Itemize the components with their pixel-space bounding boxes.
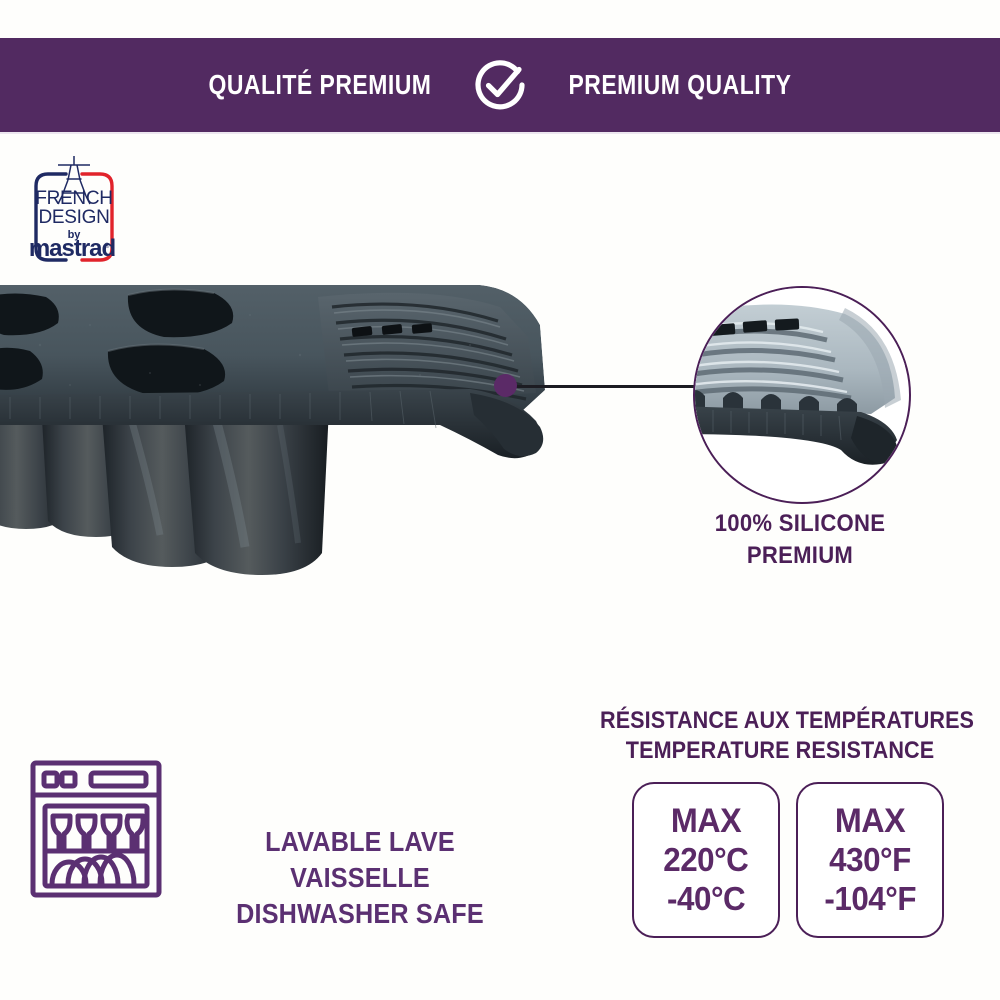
- logo-brand: mastrad: [29, 235, 116, 262]
- temperature-badge-fahrenheit: MAX 430°F -104°F: [796, 782, 944, 938]
- temperature-heading: RÉSISTANCE AUX TEMPÉRATURES TEMPERATURE …: [580, 706, 980, 766]
- temperature-badges: MAX 220°C -40°C MAX 430°F -104°F: [632, 782, 944, 938]
- dishwasher-caption-en: DISHWASHER SAFE: [198, 896, 522, 932]
- silicone-caption-line2: PREMIUM: [634, 540, 965, 572]
- product-infographic: QUALITÉ PREMIUM PREMIUM QUALITY FRENCH: [0, 0, 1000, 1000]
- magnifier-circle: [693, 286, 911, 504]
- logo-registered: ®: [104, 242, 110, 250]
- banner-text-en: PREMIUM QUALITY: [568, 69, 791, 101]
- dishwasher-caption-fr: LAVABLE LAVE VAISSELLE: [198, 824, 522, 896]
- banner-text-fr: QUALITÉ PREMIUM: [209, 69, 432, 101]
- dishwasher-caption: LAVABLE LAVE VAISSELLE DISHWASHER SAFE: [180, 824, 540, 932]
- silicone-caption: 100% SILICONE PREMIUM: [620, 508, 980, 572]
- temperature-badge-celsius: MAX 220°C -40°C: [632, 782, 780, 938]
- temperature-heading-fr: RÉSISTANCE AUX TEMPÉRATURES: [600, 706, 960, 736]
- badge-max-label-f: MAX: [835, 802, 905, 840]
- silicone-caption-line1: 100% SILICONE: [634, 508, 965, 540]
- badge-low-f: -104°F: [824, 880, 916, 918]
- callout-dot: [494, 374, 517, 397]
- badge-max-label-c: MAX: [671, 802, 741, 840]
- temperature-heading-en: TEMPERATURE RESISTANCE: [600, 736, 960, 766]
- premium-quality-banner: QUALITÉ PREMIUM PREMIUM QUALITY: [0, 38, 1000, 132]
- silicone-baking-mold-photo: [0, 285, 560, 585]
- dishwasher-icon: [28, 758, 164, 900]
- logo-line1: FRENCH: [35, 188, 112, 209]
- badge-high-f: 430°F: [829, 841, 911, 879]
- badge-high-c: 220°C: [663, 841, 748, 879]
- french-design-logo: FRENCH DESIGN by mastrad ®: [14, 152, 134, 270]
- check-circle-icon: [472, 57, 528, 113]
- logo-line2: DESIGN: [38, 207, 109, 228]
- badge-low-c: -40°C: [667, 880, 745, 918]
- callout-connector-line: [509, 385, 697, 388]
